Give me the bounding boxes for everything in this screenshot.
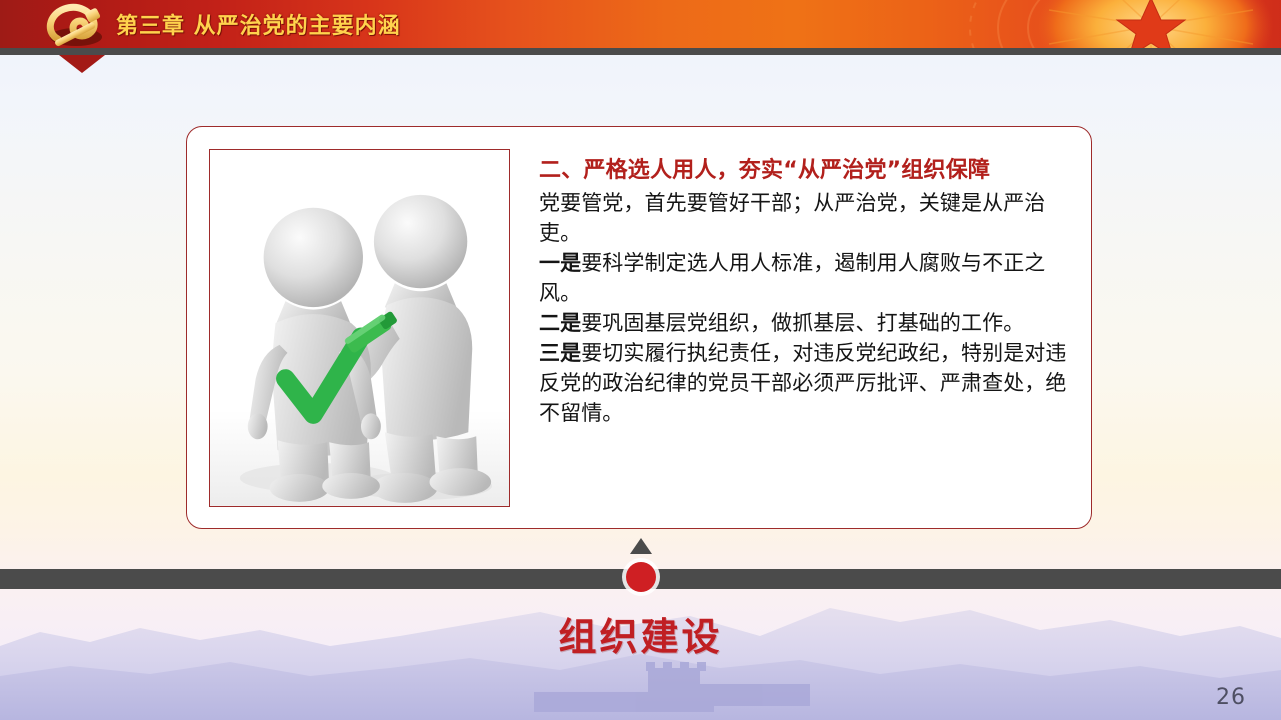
decorative-rings-icon (921, 0, 1221, 48)
card-paragraph-0: 党要管党，首先要管好干部；从严治党，关键是从严治吏。 (539, 188, 1067, 248)
red-dot-icon (626, 562, 656, 592)
section-caption: 组织建设 (0, 606, 1281, 661)
header-ribbon-tail-icon (59, 55, 105, 73)
paragraph-lead-3: 三是 (539, 341, 581, 365)
slide-header: 第三章 从严治党的主要内涵 (0, 0, 1281, 48)
red-star-icon (1021, 0, 1281, 48)
card-paragraph-3: 三是要切实履行执纪责任，对违反党纪政纪，特别是对违反党的政治纪律的党员干部必须严… (539, 338, 1067, 428)
page-number: 26 (1216, 685, 1246, 710)
slide-root: 第三章 从严治党的主要内涵 (0, 0, 1281, 720)
card-text-block: 二、严格选人用人，夯实“从严治党”组织保障 党要管党，首先要管好干部；从严治党，… (539, 155, 1067, 428)
hammer-sickle-emblem-icon (36, 3, 116, 47)
card-paragraph-1: 一是要科学制定选人用人标准，遏制用人腐败与不正之风。 (539, 248, 1067, 308)
card-heading: 二、严格选人用人，夯实“从严治党”组织保障 (539, 155, 1067, 186)
triangle-up-icon (630, 538, 652, 554)
header-underline (0, 48, 1281, 55)
paragraph-lead-1: 一是 (539, 251, 581, 275)
paragraph-lead-2: 二是 (539, 311, 581, 335)
header-title: 第三章 从严治党的主要内涵 (116, 8, 401, 40)
content-card: 二、严格选人用人，夯实“从严治党”组织保障 党要管党，首先要管好干部；从严治党，… (186, 126, 1092, 529)
card-paragraph-2: 二是要巩固基层党组织，做抓基层、打基础的工作。 (539, 308, 1067, 338)
two-figures-checkmark-illustration (209, 149, 510, 507)
